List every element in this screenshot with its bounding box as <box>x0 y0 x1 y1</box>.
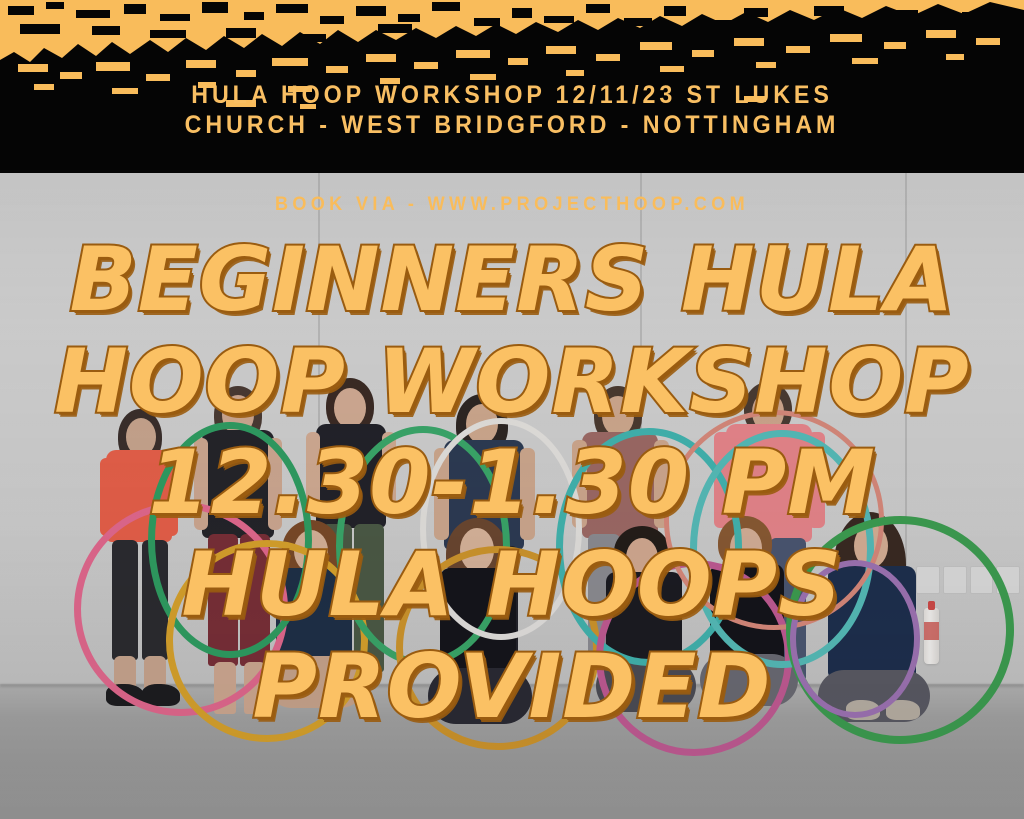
headline-line-2: HOOP WORKSHOP <box>0 332 1024 432</box>
headline-line-5: PROVIDED <box>0 636 1024 738</box>
headline-line-1: BEGINNERS HULA <box>0 228 1024 332</box>
headline-line-3: 12.30-1.30 PM <box>0 432 1024 534</box>
poster-root: HULA HOOP WORKSHOP 12/11/23 ST LUKES CHU… <box>0 0 1024 819</box>
booking-link-text[interactable]: BOOK VIA - WWW.PROJECTHOOP.COM <box>26 194 999 216</box>
event-header-text: HULA HOOP WORKSHOP 12/11/23 ST LUKES CHU… <box>36 80 988 140</box>
top-black-band: HULA HOOP WORKSHOP 12/11/23 ST LUKES CHU… <box>0 0 1024 173</box>
headline-block: BEGINNERS HULA HOOP WORKSHOP 12.30-1.30 … <box>0 228 1024 738</box>
headline-line-4: HULA HOOPS <box>0 534 1024 636</box>
